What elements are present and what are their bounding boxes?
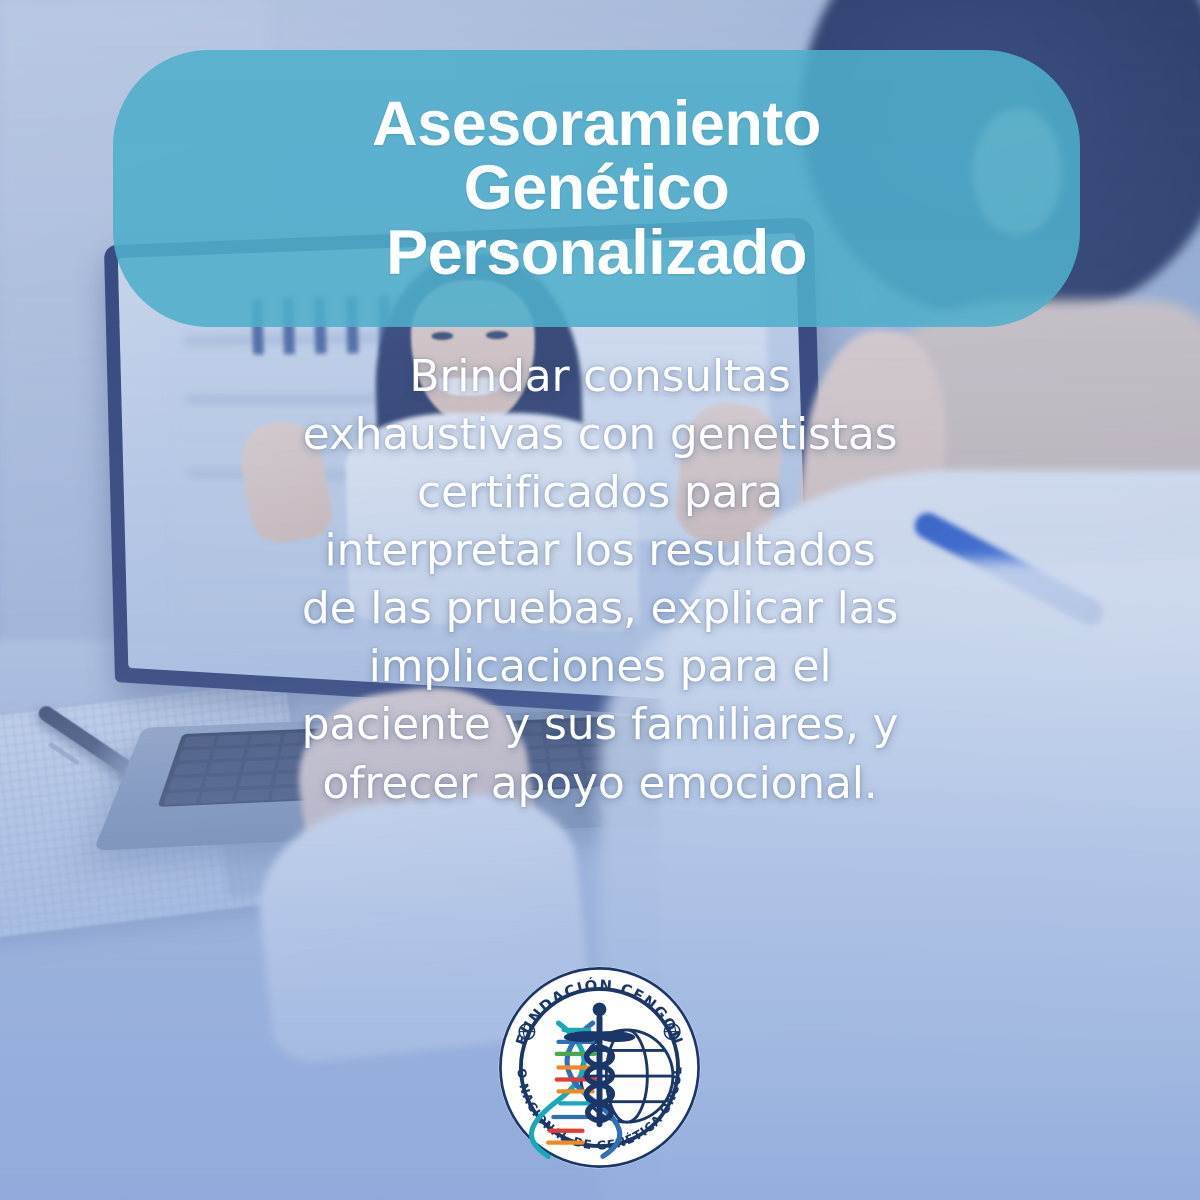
logo-svg: FUNDACIÓN CENGON CENTRO NACIONAL DE GENÉ… bbox=[483, 965, 716, 1170]
title-banner: Asesoramiento Genético Personalizado bbox=[113, 50, 1080, 327]
organization-logo: FUNDACIÓN CENGON CENTRO NACIONAL DE GENÉ… bbox=[483, 965, 716, 1170]
body-description: Brindar consultas exhaustivas con geneti… bbox=[150, 348, 1050, 813]
page-title: Asesoramiento Genético Personalizado bbox=[372, 92, 821, 285]
poster-canvas: Asesoramiento Genético Personalizado Bri… bbox=[0, 0, 1200, 1200]
